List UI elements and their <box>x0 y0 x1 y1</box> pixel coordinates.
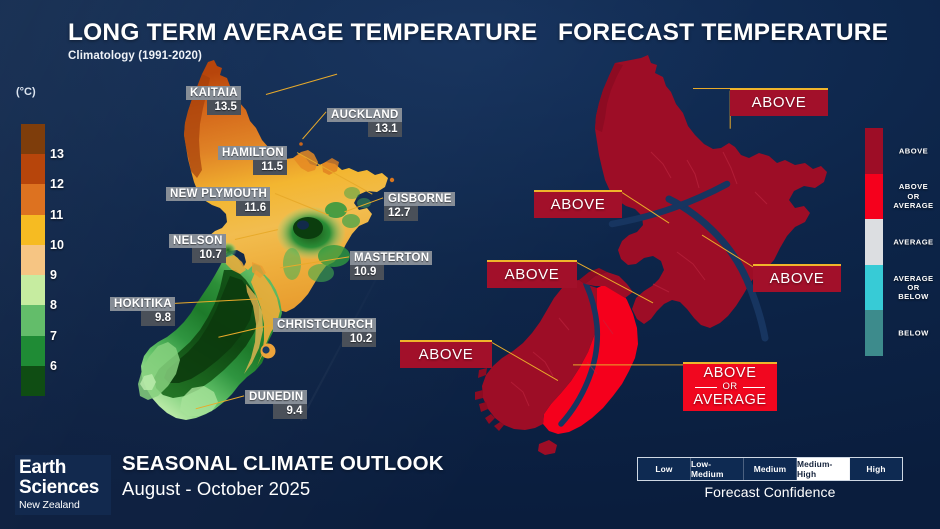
forecast-badge-line-2: OR <box>722 382 737 392</box>
outlook-title: SEASONAL CLIMATE OUTLOOK <box>122 452 444 476</box>
forecast-badge-line-1: ABOVE <box>704 366 757 381</box>
forecast-badge-text: ABOVE <box>400 342 492 368</box>
earth-sciences-logo: Earth Sciences New Zealand <box>15 455 111 515</box>
category-band-average-or-below <box>865 265 883 311</box>
city-name: CHRISTCHURCH <box>273 318 376 332</box>
category-label-above-or-average: ABOVEORAVERAGE <box>887 183 940 211</box>
forecast-badge-text: ABOVE <box>487 262 577 288</box>
temperature-tick-7: 7 <box>50 329 57 343</box>
city-temperature-value: 10.2 <box>342 332 376 347</box>
category-band-below <box>865 310 883 356</box>
forecast-badge-above-1: ABOVE <box>534 190 622 218</box>
forecast-badge-text: ABOVE <box>534 192 622 218</box>
temperature-band-6 <box>21 305 45 335</box>
forecast-badge-above-0: ABOVE <box>730 88 828 116</box>
city-temperature-value: 10.9 <box>350 265 384 280</box>
category-label-average: AVERAGE <box>887 237 940 246</box>
category-band-above-or-average <box>865 174 883 220</box>
temperature-tick-6: 6 <box>50 359 57 373</box>
city-temperature-value: 9.4 <box>273 404 307 419</box>
category-label-average-or-below: AVERAGEORBELOW <box>887 274 940 302</box>
badge-divider-rule <box>695 387 717 389</box>
city-name: AUCKLAND <box>327 108 402 122</box>
temperature-tick-10: 10 <box>50 238 64 252</box>
city-label-christchurch: CHRISTCHURCH10.2 <box>273 318 376 347</box>
temperature-colorbar-ticks: 131211109876 <box>50 124 90 396</box>
city-label-dunedin: DUNEDIN9.4 <box>245 390 307 419</box>
temperature-band-3 <box>21 215 45 245</box>
confidence-level-low[interactable]: Low <box>638 458 691 480</box>
city-label-masterton: MASTERTON10.9 <box>350 251 432 280</box>
temperature-band-8 <box>21 366 45 396</box>
forecast-confidence-caption: Forecast Confidence <box>637 484 903 500</box>
temperature-band-1 <box>21 154 45 184</box>
temperature-tick-11: 11 <box>50 208 63 222</box>
city-temperature-value: 11.6 <box>236 201 270 216</box>
city-name: HOKITIKA <box>110 297 175 311</box>
south-island-forecast <box>475 268 638 455</box>
category-label-above: ABOVE <box>887 146 940 155</box>
city-temperature-value: 10.7 <box>192 248 226 263</box>
city-temperature-value: 13.1 <box>368 122 402 137</box>
forecast-badge-text: ABOVEORAVERAGE <box>683 364 777 411</box>
temperature-band-4 <box>21 245 45 275</box>
city-temperature-value: 13.5 <box>207 100 241 115</box>
city-temperature-value: 11.5 <box>253 160 287 175</box>
category-colorbar-labels: ABOVEABOVEORAVERAGEAVERAGEAVERAGEORBELOW… <box>887 128 940 356</box>
badge-divider-rule <box>743 387 765 389</box>
city-name: DUNEDIN <box>245 390 307 404</box>
infographic-root: LONG TERM AVERAGE TEMPERATURE Climatolog… <box>0 0 940 529</box>
confidence-level-high[interactable]: High <box>850 458 902 480</box>
temperature-tick-8: 8 <box>50 298 57 312</box>
city-label-auckland: AUCKLAND13.1 <box>327 108 402 137</box>
city-label-hokitika: HOKITIKA9.8 <box>110 297 175 326</box>
temperature-colorbar <box>21 124 45 396</box>
city-temperature-value: 9.8 <box>141 311 175 326</box>
logo-line-1: Earth <box>19 458 107 478</box>
logo-line-3: New Zealand <box>19 498 107 512</box>
city-name: GISBORNE <box>384 192 455 206</box>
city-name: KAITAIA <box>186 86 241 100</box>
city-name: MASTERTON <box>350 251 432 265</box>
temperature-band-5 <box>21 275 45 305</box>
category-colorbar <box>865 128 883 356</box>
temperature-tick-13: 13 <box>50 147 64 161</box>
confidence-level-low-medium[interactable]: Low-Medium <box>691 458 744 480</box>
city-label-hamilton: HAMILTON11.5 <box>218 146 287 175</box>
forecast-badge-text: ABOVE <box>730 90 828 116</box>
city-label-nelson: NELSON10.7 <box>169 234 226 263</box>
outlook-period: August - October 2025 <box>122 478 310 500</box>
city-label-new-plymouth: NEW PLYMOUTH11.6 <box>166 187 270 216</box>
right-panel-title: FORECAST TEMPERATURE <box>558 19 888 47</box>
temperature-unit-label: (°C) <box>16 86 36 98</box>
left-panel-title: LONG TERM AVERAGE TEMPERATURE <box>68 19 538 47</box>
logo-line-2: Sciences <box>19 478 107 498</box>
forecast-badge-text: ABOVE <box>753 266 841 292</box>
temperature-band-7 <box>21 336 45 366</box>
city-label-gisborne: GISBORNE12.7 <box>384 192 455 221</box>
forecast-badge-above-or-average-5: ABOVEORAVERAGE <box>683 362 777 411</box>
forecast-badge-above-4: ABOVE <box>400 340 492 368</box>
city-name: NEW PLYMOUTH <box>166 187 270 201</box>
category-band-above <box>865 128 883 174</box>
forecast-badge-above-2: ABOVE <box>487 260 577 288</box>
city-name: NELSON <box>169 234 226 248</box>
temperature-band-2 <box>21 184 45 214</box>
category-band-average <box>865 219 883 265</box>
category-label-below: BELOW <box>887 329 940 338</box>
temperature-band-0 <box>21 124 45 154</box>
forecast-confidence-bar[interactable]: LowLow-MediumMediumMedium-HighHigh <box>637 457 903 481</box>
city-temperature-value: 12.7 <box>384 206 418 221</box>
confidence-level-medium-high[interactable]: Medium-High <box>797 458 850 480</box>
city-name: HAMILTON <box>218 146 287 160</box>
confidence-level-medium[interactable]: Medium <box>744 458 797 480</box>
city-label-kaitaia: KAITAIA13.5 <box>186 86 241 115</box>
temperature-tick-9: 9 <box>50 268 57 282</box>
temperature-tick-12: 12 <box>50 177 64 191</box>
forecast-badge-above-3: ABOVE <box>753 264 841 292</box>
forecast-badge-line-3: AVERAGE <box>693 393 766 408</box>
